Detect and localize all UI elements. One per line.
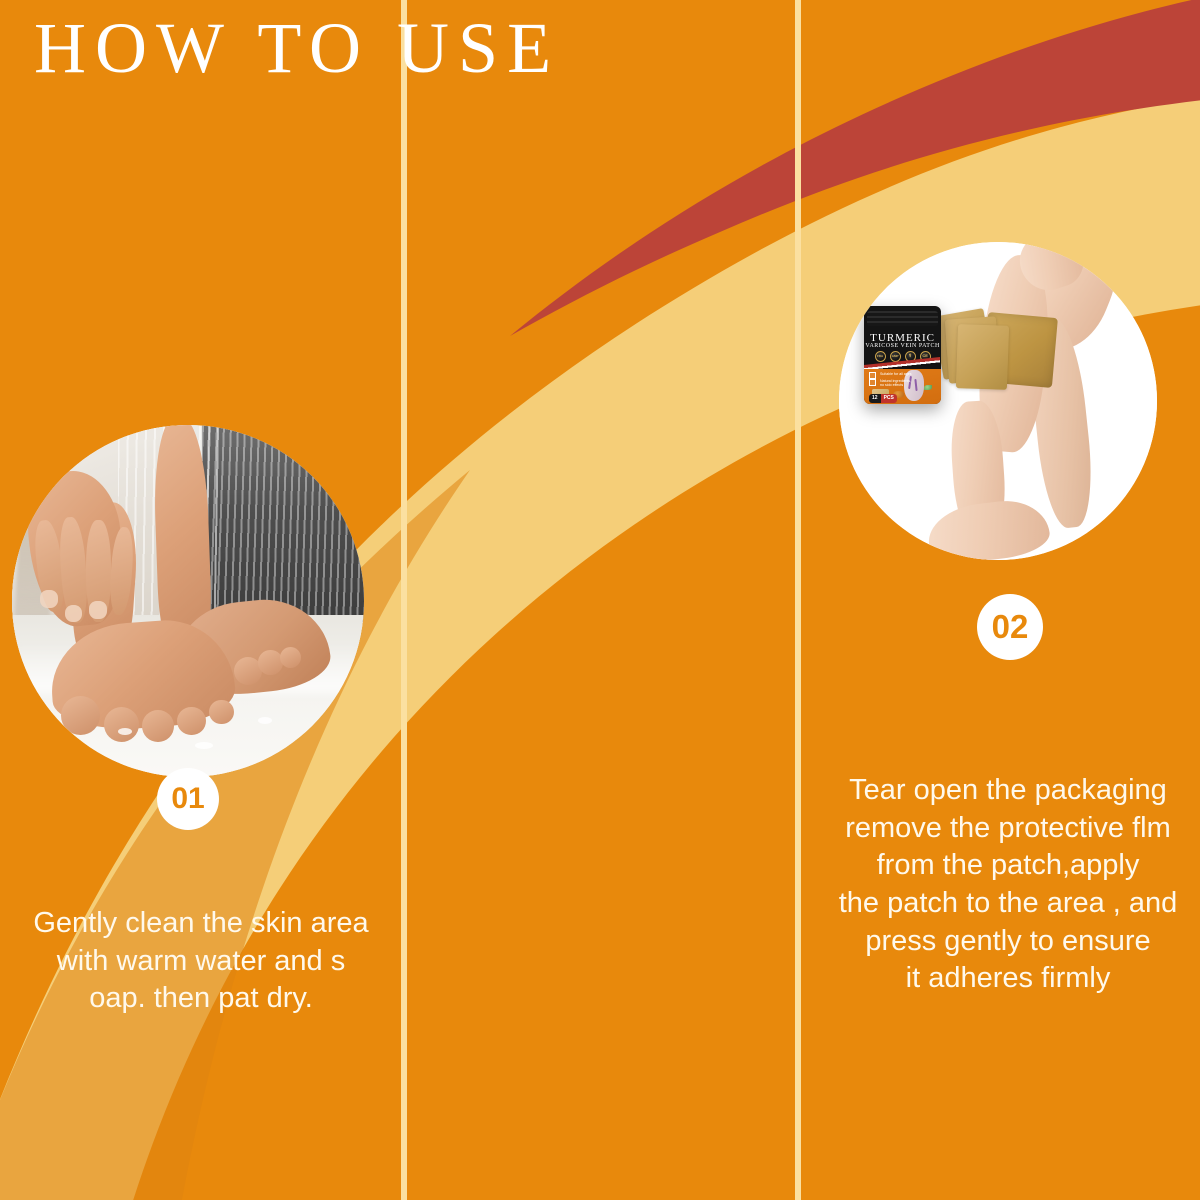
how-to-use-infographic: HOW TO USE bbox=[0, 0, 1200, 1200]
toe bbox=[209, 700, 234, 725]
water-drop bbox=[118, 728, 132, 735]
fingernail bbox=[65, 605, 83, 623]
step-column-03: XII I II III V IIII TURMERIC VARICOSE VE… bbox=[801, 0, 1200, 1200]
step-caption-01: Gently clean the skin area with warm wat… bbox=[10, 905, 392, 1018]
toe bbox=[61, 696, 100, 735]
toe bbox=[177, 707, 205, 735]
toe bbox=[142, 710, 174, 742]
water-drop bbox=[195, 742, 213, 749]
fingernail bbox=[89, 601, 107, 619]
water-streaks-right bbox=[202, 425, 364, 622]
toe bbox=[258, 650, 283, 675]
fingernail bbox=[40, 590, 58, 608]
step-number-badge-01: 01 bbox=[157, 768, 219, 830]
toe bbox=[280, 647, 301, 668]
toe bbox=[104, 707, 139, 742]
feet-washing-in-shower-photo bbox=[12, 425, 364, 777]
step-01-photo bbox=[12, 425, 364, 777]
step-column-02: TURMERIC VARICOSE VEIN PATCH FDA GMP ⚕ C… bbox=[407, 0, 795, 1200]
step-column-01: 01 Gently clean the skin area with warm … bbox=[0, 0, 401, 1200]
